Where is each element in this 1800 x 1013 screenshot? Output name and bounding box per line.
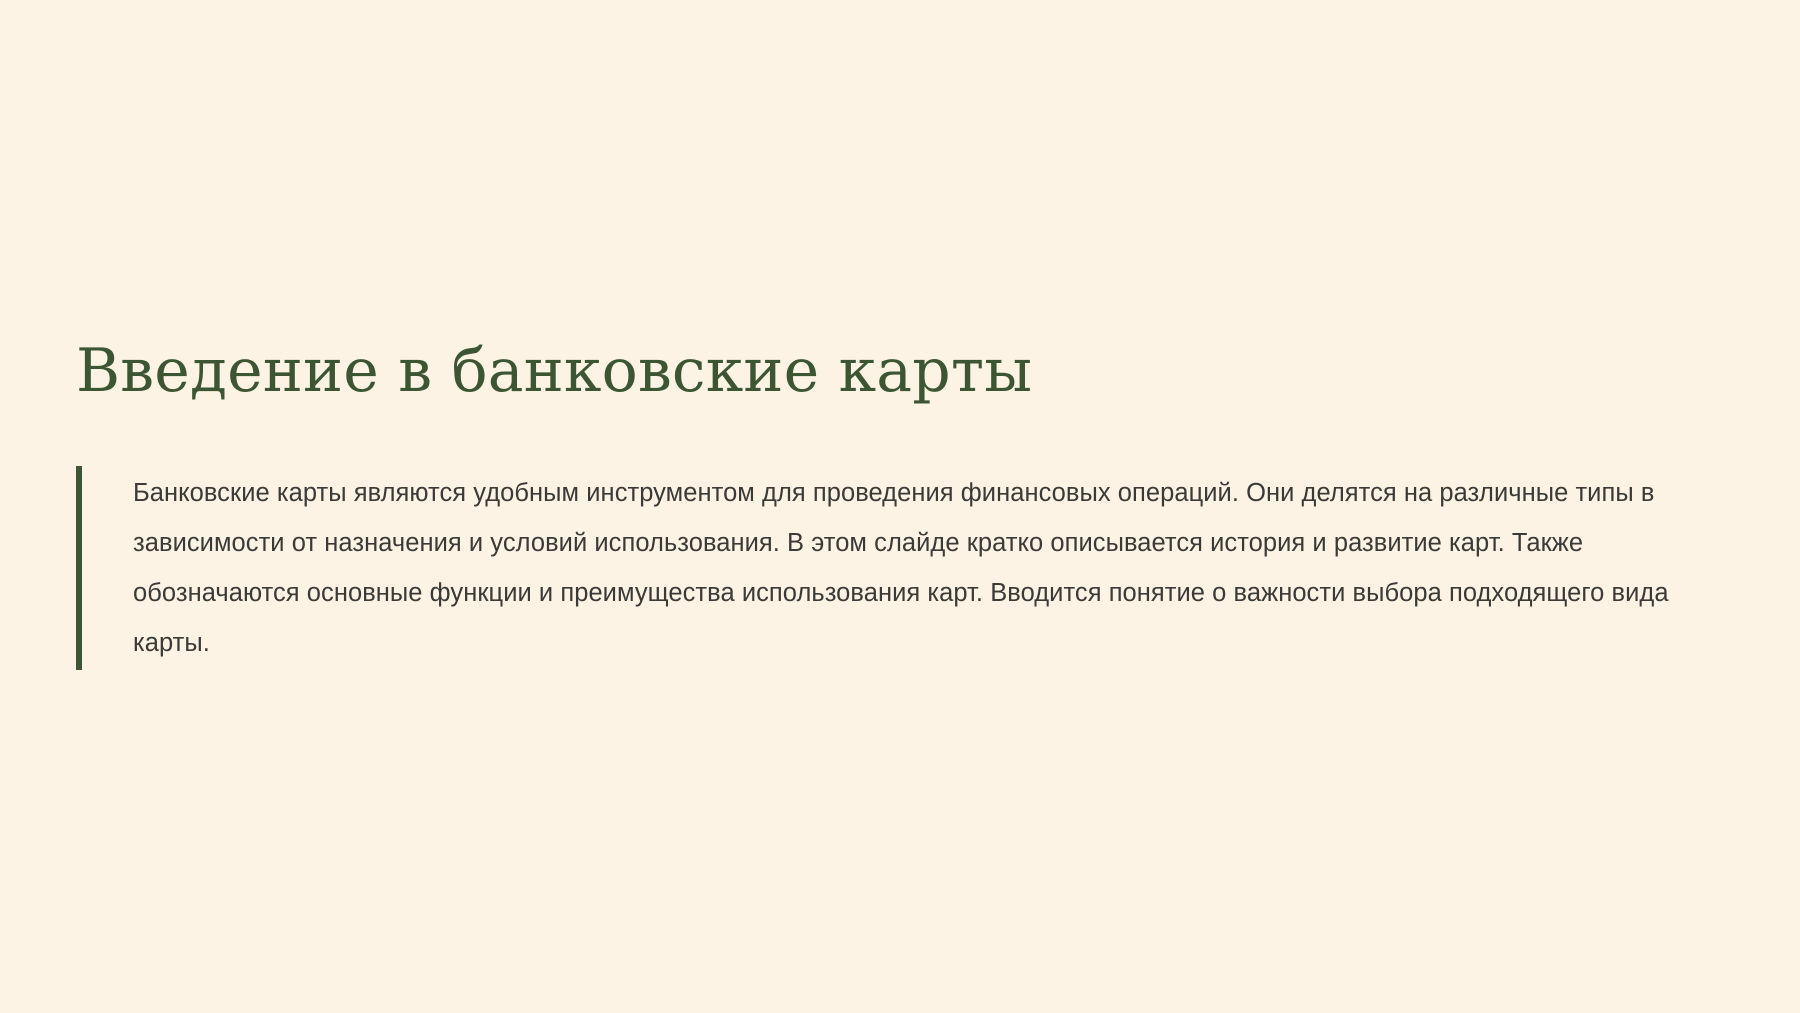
slide-canvas: Введение в банковские карты Банковские к… [0, 0, 1800, 1013]
body-text: Банковские карты являются удобным инстру… [82, 466, 1716, 670]
body-callout: Банковские карты являются удобным инстру… [76, 466, 1716, 670]
page-title: Введение в банковские карты [76, 336, 1032, 407]
body-paragraph: Банковские карты являются удобным инстру… [133, 468, 1716, 668]
